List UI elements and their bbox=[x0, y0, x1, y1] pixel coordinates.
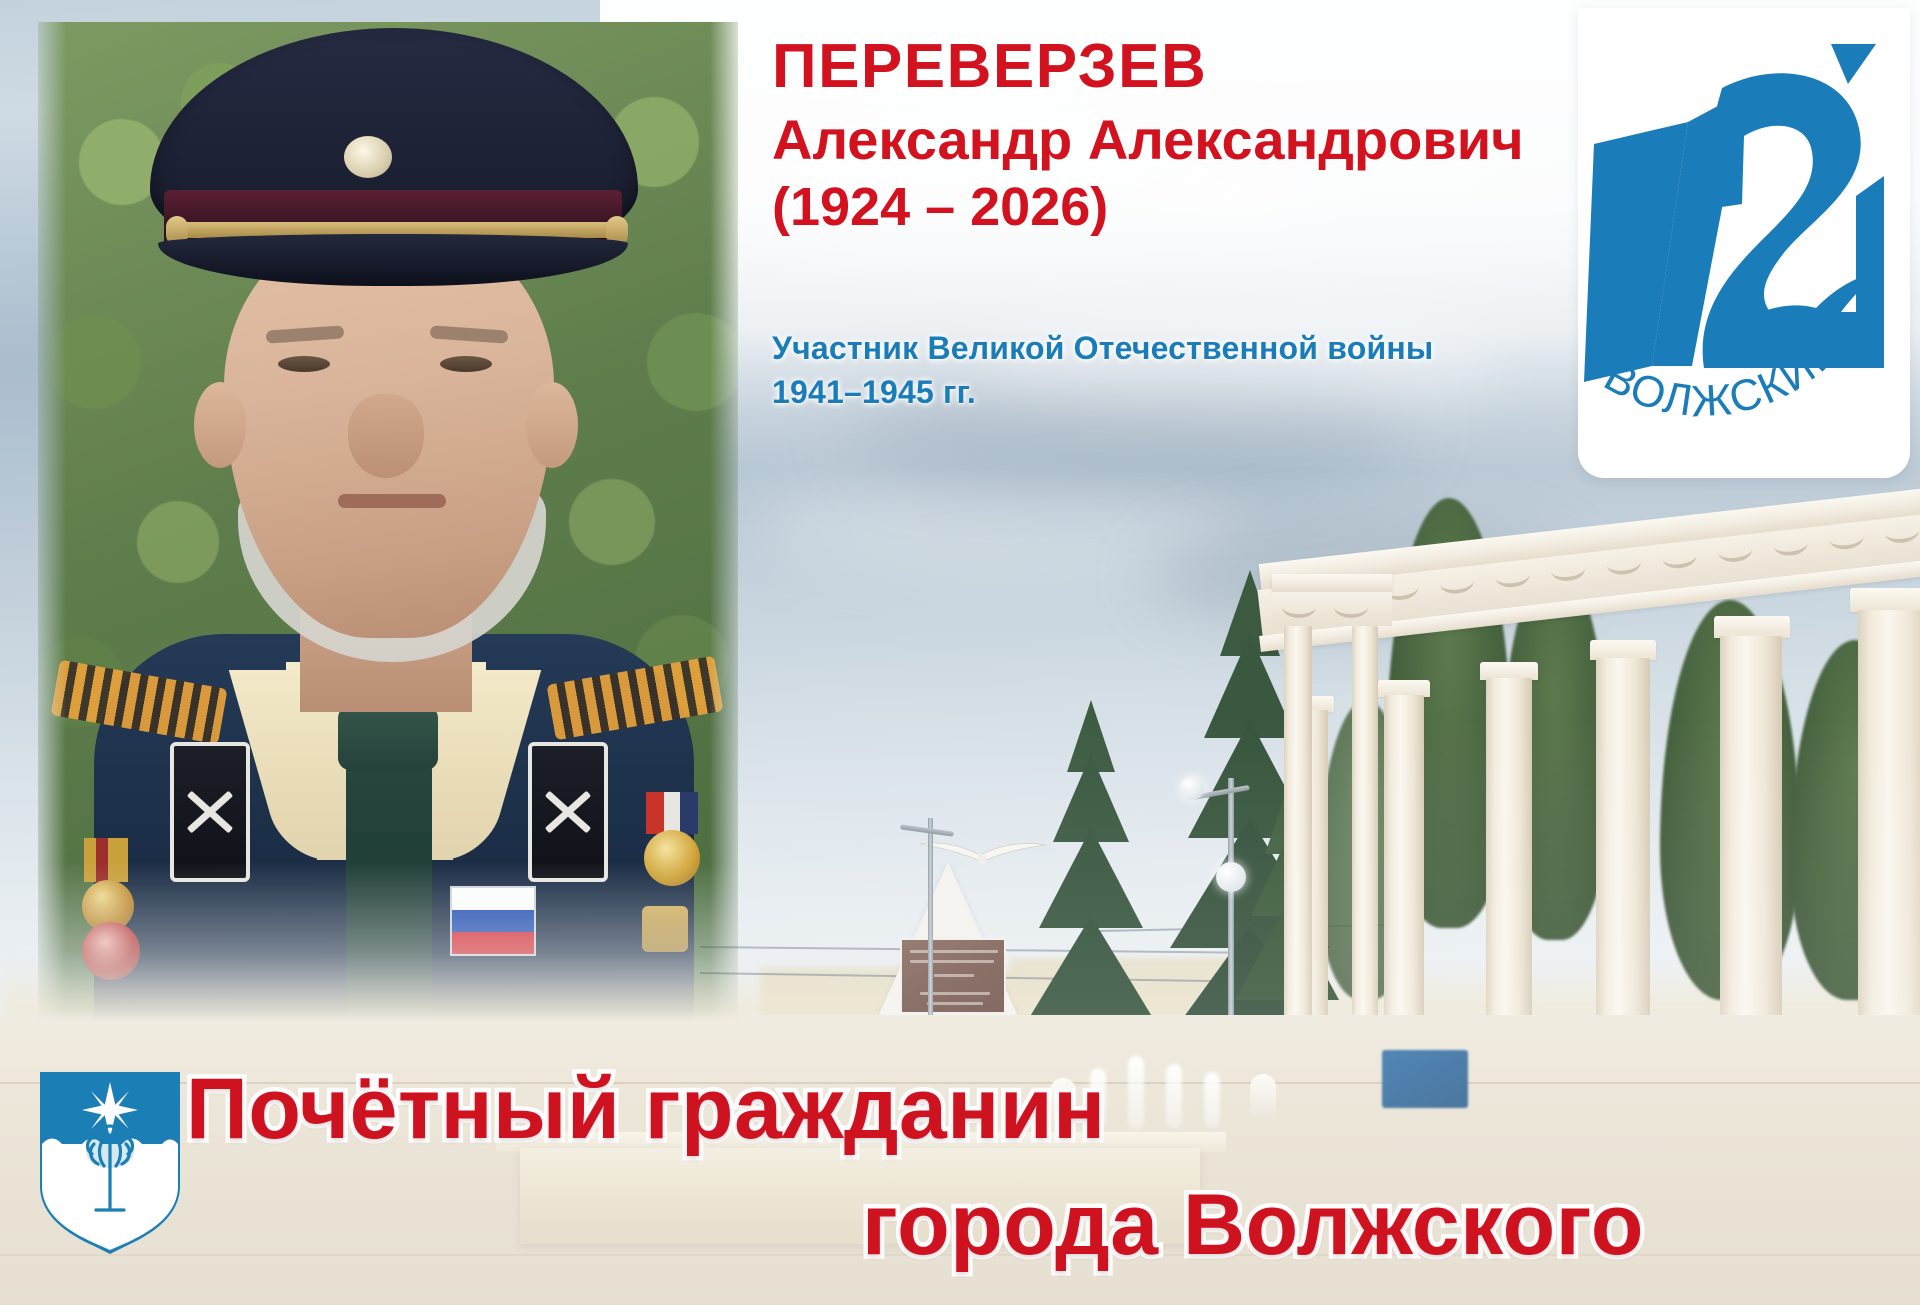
logo-graphic: ВОЛЖСКИЙ bbox=[1584, 26, 1904, 456]
volzhsky-coat-of-arms bbox=[36, 1068, 184, 1254]
ear-left bbox=[194, 382, 246, 468]
veteran-line-2: 1941–1945 гг. bbox=[772, 370, 1572, 414]
mouth bbox=[338, 494, 446, 508]
ear-right bbox=[526, 382, 578, 468]
cornice bbox=[1272, 574, 1392, 592]
veteran-status: Участник Великой Отечественной войны 194… bbox=[772, 326, 1572, 414]
column-capital bbox=[1590, 640, 1656, 660]
medal bbox=[82, 922, 140, 980]
surname: ПЕРЕВЕРЗЕВ bbox=[772, 34, 1572, 100]
column bbox=[1284, 626, 1312, 1046]
honor-title-line-1: Почётный гражданин bbox=[186, 1066, 1106, 1152]
column-capital bbox=[1850, 588, 1920, 612]
russian-flag-pin bbox=[450, 886, 536, 956]
blue-sign bbox=[1382, 1050, 1468, 1108]
column bbox=[1352, 626, 1378, 1036]
medal-ribbon bbox=[646, 792, 698, 834]
name-text-block: ПЕРЕВЕРЗЕВ Александр Александрович (1924… bbox=[772, 34, 1572, 414]
memorial-poster: ПЕРЕВЕРЗЕВ Александр Александрович (1924… bbox=[0, 0, 1920, 1305]
veteran-portrait bbox=[38, 22, 738, 1022]
medal bbox=[644, 830, 700, 886]
veteran-line-1: Участник Великой Отечественной войны bbox=[772, 326, 1572, 370]
collar-tab-left bbox=[170, 742, 250, 882]
column-capital bbox=[1714, 616, 1790, 638]
frieze bbox=[1272, 592, 1392, 626]
logo-accent-tick bbox=[1831, 44, 1876, 84]
fountain-jet bbox=[1204, 1072, 1220, 1128]
memorial-plaque bbox=[900, 938, 1006, 1014]
fountain-jet bbox=[1166, 1064, 1182, 1128]
bollard bbox=[1250, 1074, 1276, 1120]
eye-right bbox=[440, 356, 492, 372]
volzhsky-72-logo: ВОЛЖСКИЙ bbox=[1578, 8, 1910, 478]
nose bbox=[348, 394, 424, 478]
seagull-sculpture-icon bbox=[918, 838, 1048, 864]
honor-title-line-2: города Волжского bbox=[862, 1182, 1644, 1268]
lifespan: (1924 – 2026) bbox=[772, 176, 1572, 240]
fountain-jet bbox=[1128, 1056, 1144, 1130]
lamp-globe bbox=[1180, 776, 1204, 800]
medal bbox=[642, 906, 688, 952]
medal-ribbon bbox=[84, 838, 128, 882]
eye-left bbox=[278, 356, 330, 372]
necktie-knot bbox=[338, 706, 438, 770]
given-patronymic: Александр Александрович bbox=[772, 106, 1572, 174]
cap-cockade bbox=[344, 136, 392, 178]
lamp-globe bbox=[1216, 862, 1246, 892]
collar-tab-right bbox=[528, 742, 608, 882]
